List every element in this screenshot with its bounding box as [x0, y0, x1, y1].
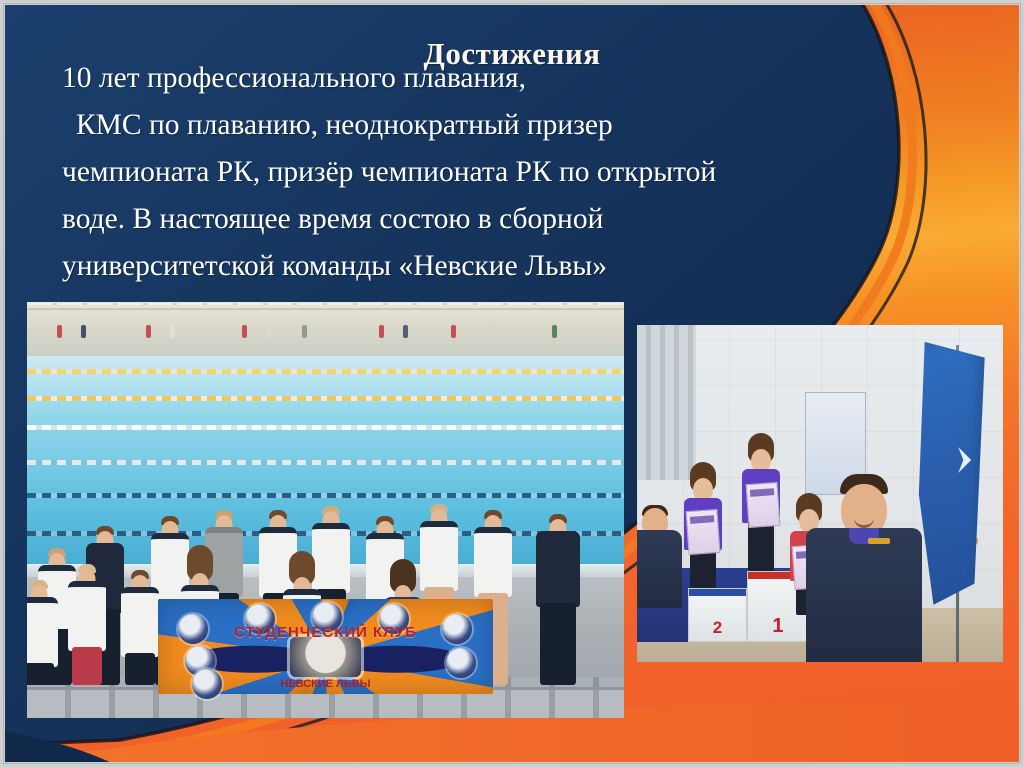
presentation-slide: Достижения 10 лет профессионального плав… [0, 0, 1024, 767]
body-line-5: университетской команды «Невские Львы» [62, 243, 992, 290]
hall-far-deck [27, 308, 624, 311]
slide-body-text: 10 лет профессионального плавания, КМС п… [62, 55, 992, 290]
flag-badge-icon [192, 669, 222, 699]
pool-team-photo: СТУДЕНЧЕСКИЙ КЛУБ НЕВСКИЕ ЛЬВЫ Команда п… [27, 302, 624, 718]
body-line-4: воде. В настоящее время состою в сборной [62, 196, 992, 243]
lane-divider [27, 396, 624, 401]
flag-team-name: НЕВСКИЕ ЛЬВЫ [242, 678, 409, 690]
flag-badge-icon [446, 648, 476, 678]
certificate [746, 482, 781, 528]
podium-block-second: 2 [688, 588, 747, 642]
wall-structure [637, 325, 696, 480]
lane-divider [27, 425, 624, 430]
hall-windows [27, 303, 624, 306]
lane-divider [27, 369, 624, 374]
body-line-2: КМС по плаванию, неоднократный призер [62, 102, 992, 149]
far-spectators [27, 325, 624, 350]
shoulder-insignia [868, 538, 890, 544]
lion-emblem-icon [290, 637, 360, 677]
swim-team-group: СТУДЕНЧЕСКИЙ КЛУБ НЕВСКИЕ ЛЬВЫ [27, 452, 624, 685]
podium-award-photo: 1 2 [637, 325, 1003, 662]
banner-emblem-icon [945, 447, 971, 473]
certificate [685, 509, 720, 555]
student-club-flag: СТУДЕНЧЕСКИЙ КЛУБ НЕВСКИЕ ЛЬВЫ [158, 599, 492, 695]
body-line-3: чемпионата РК, призёр чемпионата РК по о… [62, 149, 992, 196]
flag-club-name: СТУДЕНЧЕСКИЙ КЛУБ [202, 624, 449, 641]
body-line-1: 10 лет профессионального плавания, [62, 55, 992, 102]
